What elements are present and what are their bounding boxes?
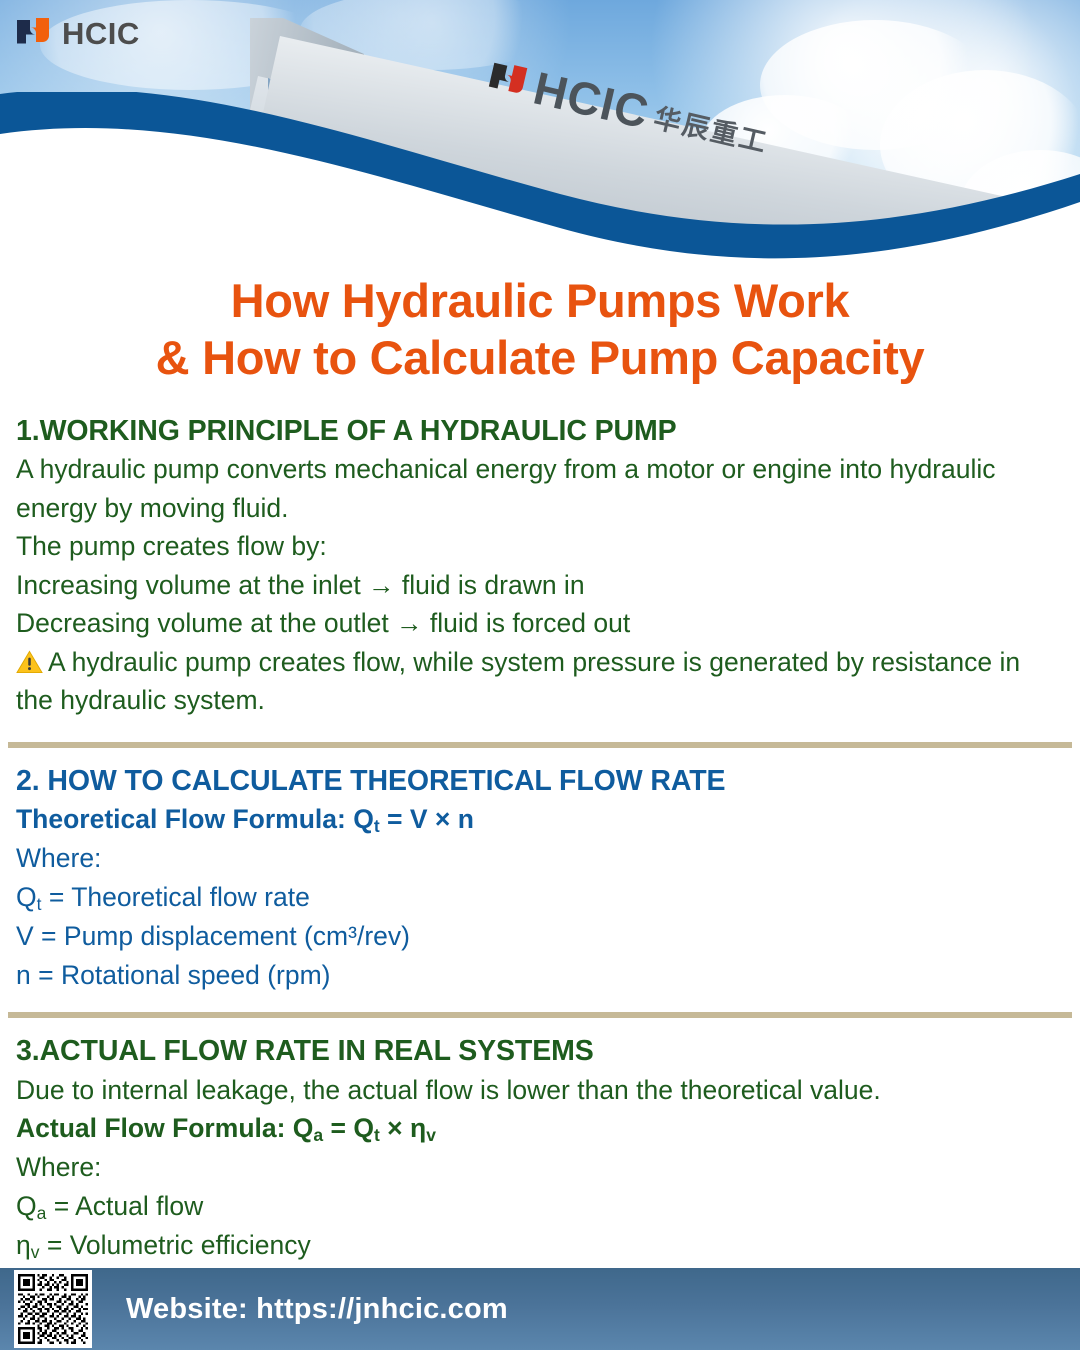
section-divider-1	[8, 742, 1072, 748]
definition-symbol: V	[16, 921, 34, 951]
section-3-formula: Actual Flow Formula: Qa = Qt × ηv	[16, 1109, 1064, 1148]
section-1-heading: 1.WORKING PRINCIPLE OF A HYDRAULIC PUMP	[16, 412, 1064, 450]
website-label[interactable]: Website: https://jnhcic.com	[126, 1293, 508, 1326]
section-3-formula-mid: = Q	[323, 1113, 374, 1143]
definition-text: = Actual flow	[46, 1191, 203, 1221]
section-2-definition: n = Rotational speed (rpm)	[16, 956, 1064, 995]
section-actual-flow-rate: 3.ACTUAL FLOW RATE IN REAL SYSTEMS Due t…	[0, 1032, 1080, 1265]
section-3-formula-subscript: a	[313, 1125, 323, 1145]
section-1-note: A hydraulic pump creates flow, while sys…	[16, 643, 1064, 720]
definition-symbol: η	[16, 1230, 31, 1260]
section-2-formula-label: Theoretical Flow Formula:	[16, 804, 353, 834]
definition-symbol: n	[16, 960, 31, 990]
warning-triangle-icon	[16, 650, 43, 674]
infographic-page: HCIC 华辰重工 HCIC How Hydraulic Pumps Work …	[0, 0, 1080, 1350]
hcic-logo: HCIC	[16, 16, 140, 52]
section-3-formula-symbol: Q	[293, 1113, 314, 1143]
definition-subscript: a	[37, 1203, 47, 1223]
logo-text: HCIC	[62, 16, 140, 52]
section-2-where-label: Where:	[16, 839, 1064, 878]
hcic-s-mark-icon	[16, 17, 52, 51]
section-3-formula-tail-subscript: v	[426, 1125, 436, 1145]
definition-text: = Pump displacement (cm³/rev)	[34, 921, 410, 951]
section-3-formula-label: Actual Flow Formula:	[16, 1113, 293, 1143]
section-3-where-label: Where:	[16, 1148, 1064, 1187]
section-3-formula-tail: × η	[380, 1113, 426, 1143]
section-3-heading: 3.ACTUAL FLOW RATE IN REAL SYSTEMS	[16, 1032, 1064, 1070]
section-1-line-1: A hydraulic pump converts mechanical ene…	[16, 450, 1064, 527]
qr-code-image	[18, 1274, 88, 1344]
section-1-note-text: A hydraulic pump creates flow, while sys…	[16, 647, 1020, 716]
page-title: How Hydraulic Pumps Work & How to Calcul…	[0, 272, 1080, 387]
blue-wave-divider	[0, 92, 1080, 272]
definition-text: = Theoretical flow rate	[41, 882, 309, 912]
content-body: 1.WORKING PRINCIPLE OF A HYDRAULIC PUMP …	[0, 412, 1080, 1266]
section-2-definition: Qt = Theoretical flow rate	[16, 878, 1064, 917]
definition-symbol: Q	[16, 882, 37, 912]
section-divider-2	[8, 1012, 1072, 1018]
section-1-line-3: Increasing volume at the inlet → fluid i…	[16, 566, 1064, 605]
section-theoretical-flow-rate: 2. HOW TO CALCULATE THEORETICAL FLOW RAT…	[0, 762, 1080, 994]
qr-code-icon[interactable]	[14, 1270, 92, 1348]
section-3-definition: Qa = Actual flow	[16, 1187, 1064, 1226]
definition-text: = Volumetric efficiency	[40, 1230, 311, 1260]
definition-subscript: v	[31, 1242, 40, 1262]
section-2-formula: Theoretical Flow Formula: Qt = V × n	[16, 800, 1064, 839]
definition-text: = Rotational speed (rpm)	[31, 960, 331, 990]
footer-bar: Website: https://jnhcic.com	[0, 1268, 1080, 1350]
section-2-formula-rest: = V × n	[380, 804, 474, 834]
section-1-line-4: Decreasing volume at the outlet → fluid …	[16, 604, 1064, 643]
section-2-formula-symbol: Q	[353, 804, 374, 834]
page-title-line2: & How to Calculate Pump Capacity	[0, 329, 1080, 386]
section-2-definition: V = Pump displacement (cm³/rev)	[16, 917, 1064, 956]
page-title-line1: How Hydraulic Pumps Work	[0, 272, 1080, 329]
definition-symbol: Q	[16, 1191, 37, 1221]
section-1-line-2: The pump creates flow by:	[16, 527, 1064, 566]
hero-banner: HCIC 华辰重工 HCIC	[0, 0, 1080, 272]
section-3-intro: Due to internal leakage, the actual flow…	[16, 1071, 1064, 1110]
section-3-definition: ηv = Volumetric efficiency	[16, 1226, 1064, 1265]
section-working-principle: 1.WORKING PRINCIPLE OF A HYDRAULIC PUMP …	[0, 412, 1080, 720]
section-2-heading: 2. HOW TO CALCULATE THEORETICAL FLOW RAT…	[16, 762, 1064, 800]
